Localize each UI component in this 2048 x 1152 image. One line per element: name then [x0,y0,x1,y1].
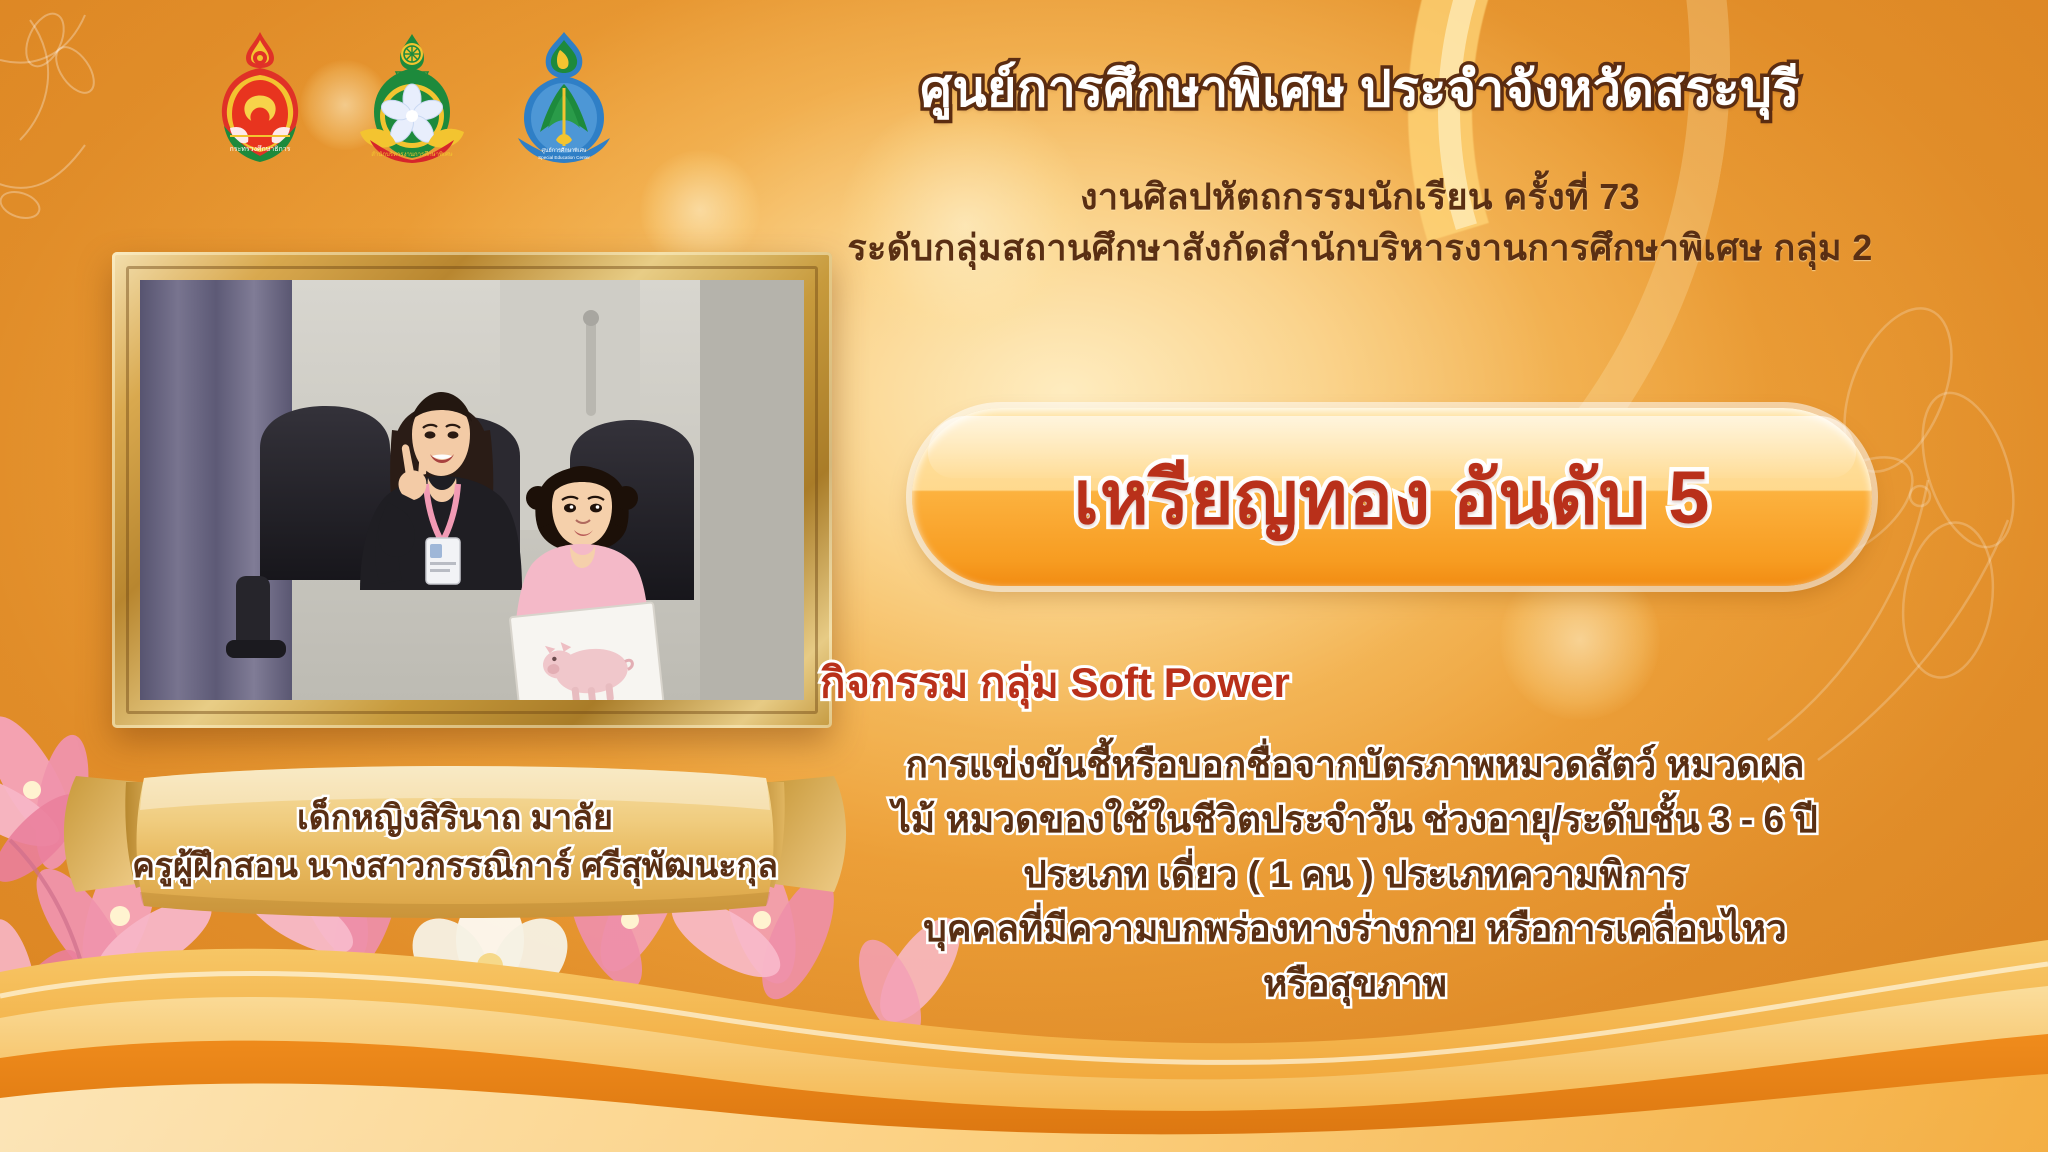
svg-text:ศูนย์การศึกษาพิเศษ: ศูนย์การศึกษาพิเศษ [541,147,587,154]
description-line: บุคคลที่มีความบกพร่องทางร่างกาย หรือการเ… [790,902,1920,957]
name-ribbon: เด็กหญิงสิรินาถ มาลัย ครูผู้ฝึกสอน นางสา… [40,760,870,940]
teacher-name: ครูผู้ฝึกสอน นางสาวกรรณิการ์ ศรีสุพัฒนะก… [40,842,870,890]
logo-row: กระทรวงศึกษาธิการ [200,28,624,163]
event-level-line: ระดับกลุ่มสถานศึกษาสังกัดสำนักบริหารงานก… [700,222,2020,273]
description-line: การแข่งขันชี้หรือบอกชื่อจากบัตรภาพหมวดสั… [790,738,1920,793]
special-education-bureau-emblem-icon: สำนักบริหารงานการศึกษาพิเศษ [352,28,472,163]
student-name: เด็กหญิงสิรินาถ มาลัย [40,794,870,842]
ministry-of-education-emblem-icon: กระทรวงศึกษาธิการ [200,28,320,163]
special-education-center-emblem-icon: ศูนย์การศึกษาพิเศษ Special Education Cen… [504,28,624,163]
page-title: ศูนย์การศึกษาพิเศษ ประจำจังหวัดสระบุรี [700,60,2020,119]
activity-block: กิจกรรม กลุ่ม Soft Power การแข่งขันชี้หร… [790,650,1920,1012]
winner-names: เด็กหญิงสิรินาถ มาลัย ครูผู้ฝึกสอน นางสา… [40,794,870,891]
activity-description: การแข่งขันชี้หรือบอกชื่อจากบัตรภาพหมวดสั… [790,738,1920,1012]
award-badge-label: เหรียญทอง อันดับ 5 [1074,438,1711,556]
award-badge: เหรียญทอง อันดับ 5 [912,408,1872,586]
description-line: ไม้ หมวดของใช้ในชีวิตประจำวัน ช่วงอายุ/ร… [790,793,1920,848]
activity-heading: กิจกรรม กลุ่ม Soft Power [820,650,1920,716]
svg-text:Special Education Center: Special Education Center [538,155,590,160]
award-photo [140,280,804,700]
event-name-line: งานศิลปหัตถกรรมนักเรียน ครั้งที่ 73 [700,171,2020,222]
svg-text:สำนักบริหารงานการศึกษาพิเศษ: สำนักบริหารงานการศึกษาพิเศษ [371,151,453,158]
description-line: ประเภท เดี่ยว ( 1 คน ) ประเภทความพิการ [790,848,1920,903]
photo-frame [112,252,832,728]
award-banner: กระทรวงศึกษาธิการ [0,0,2048,1152]
event-subtitle-block: งานศิลปหัตถกรรมนักเรียน ครั้งที่ 73 ระดั… [700,171,2020,273]
svg-text:กระทรวงศึกษาธิการ: กระทรวงศึกษาธิการ [230,144,291,153]
header-block: ศูนย์การศึกษาพิเศษ ประจำจังหวัดสระบุรี ง… [700,60,2020,273]
description-line: หรือสุขภาพ [790,957,1920,1012]
